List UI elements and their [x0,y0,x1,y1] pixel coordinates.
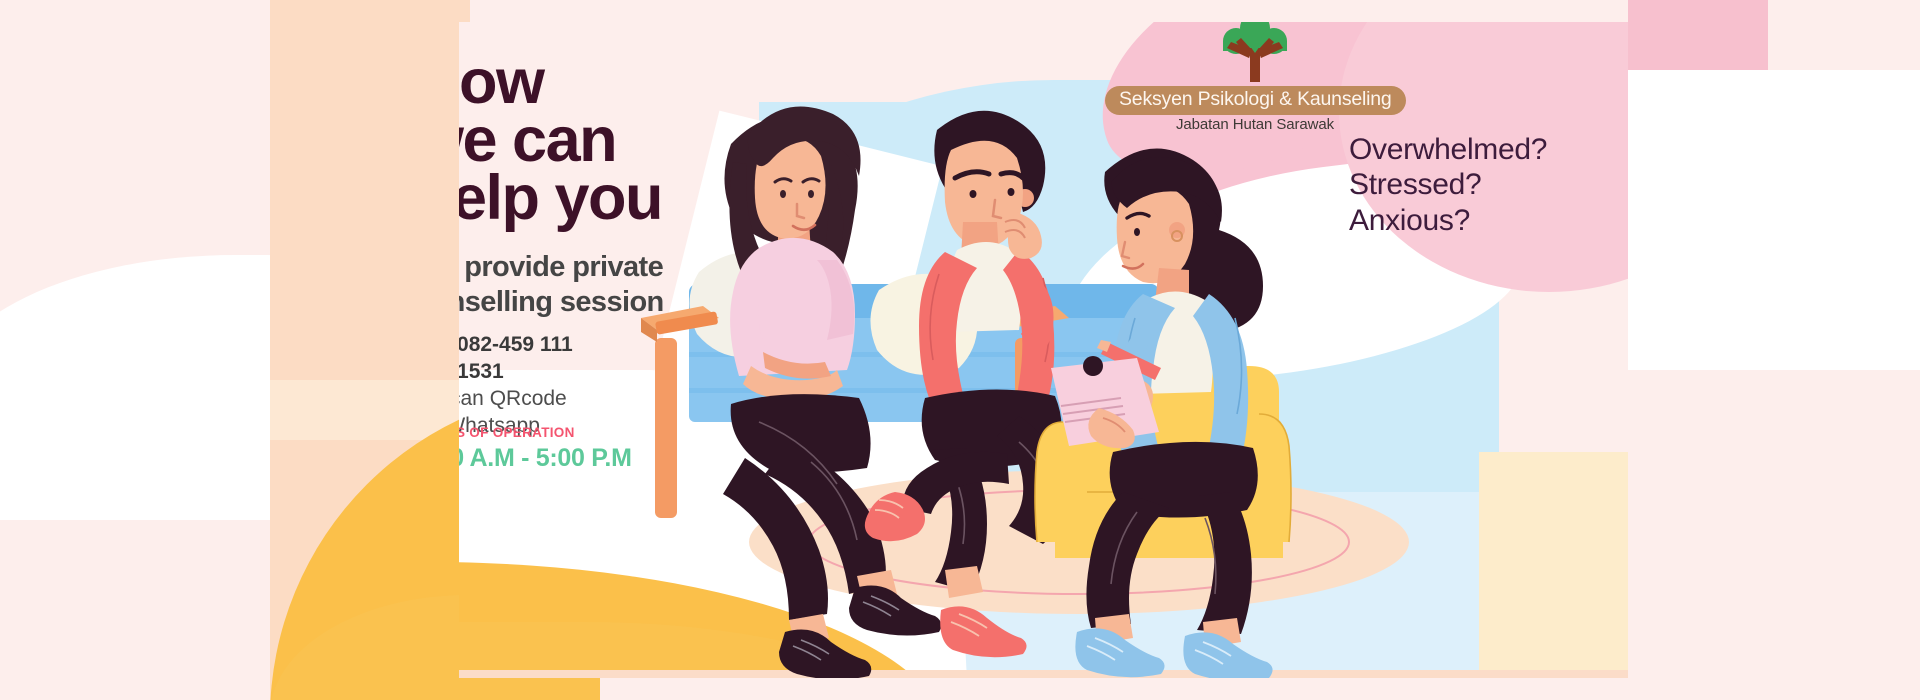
image-credit: "image: Freepik.com" This cover has been… [1479,650,1628,660]
tree-icon [1219,22,1291,86]
logo-org-name: Seksyen Psikologi & Kaunseling [1105,86,1406,115]
scan-instruction-line-1: or scan QRcode [459,386,815,413]
question-2: Stressed? [1349,167,1628,202]
decor-cream-wedge [1479,452,1628,678]
poster-screenshot: How we can help you We provide private c… [0,0,1920,700]
logo-department: Jabatan Hutan Sarawak [1105,116,1405,133]
questions-block: Overwhelmed? Stressed? Anxious? [1349,132,1628,238]
question-3: Anxious? [1349,203,1628,238]
subheadline: We provide private conselling session [459,250,835,320]
subheadline-line-1: We provide private [459,250,835,285]
call-line: Call 082-459 111 [459,332,815,359]
poster-bottom-strip [459,670,1628,678]
background-right-white-fill [1628,155,1920,370]
headline-line-3: help you [459,170,835,228]
hours-value: 9:00 A.M - 5:00 P.M [459,444,815,473]
extension-line: ext. 1531 [459,359,815,386]
subheadline-line-2: conselling session [459,285,835,320]
organisation-logo: Seksyen Psikologi & Kaunseling Jabatan H… [1105,22,1405,133]
phone-number: 082-459 111 [459,333,573,356]
headline-line-1: How [459,54,835,112]
poster-card: How we can help you We provide private c… [459,22,1628,678]
hours-label: HOURS OF OPERATION [459,425,815,440]
contact-block: Call 082-459 111 ext. 1531 or scan QRcod… [459,332,815,440]
page-title: How we can help you [459,54,835,228]
question-1: Overwhelmed? [1349,132,1628,167]
phone-extension: ext. 1531 [459,360,504,383]
headline-line-2: we can [459,112,835,170]
